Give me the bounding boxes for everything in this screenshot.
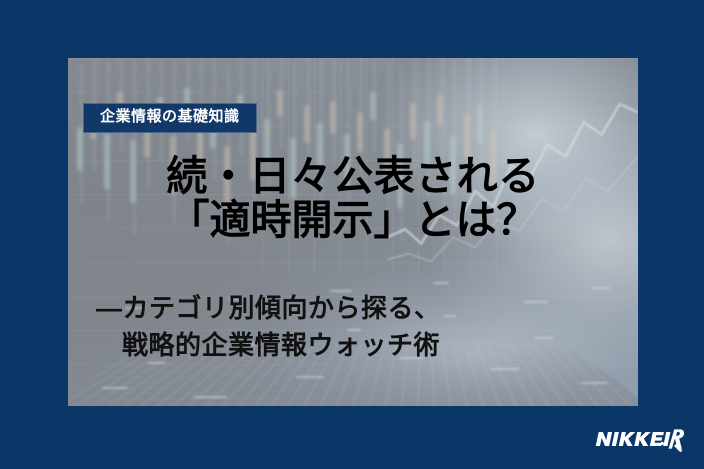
hero-image-panel: 企業情報の基礎知識 続・日々公表される 「適時開示」とは？ ―カテゴリ別傾向から… [68,58,638,406]
page-subtitle: ―カテゴリ別傾向から探る、 戦略的企業情報ウォッチ術 [96,290,441,364]
page-title-line-1: 続・日々公表される [68,154,638,198]
hero-content: 企業情報の基礎知識 続・日々公表される 「適時開示」とは？ ―カテゴリ別傾向から… [68,58,638,406]
article-cover-slide: 企業情報の基礎知識 続・日々公表される 「適時開示」とは？ ―カテゴリ別傾向から… [0,0,704,469]
category-badge: 企業情報の基礎知識 [83,103,257,133]
page-subtitle-line-1: ―カテゴリ別傾向から探る、 [96,293,441,323]
page-title-line-2: 「適時開示」とは？ [68,198,638,242]
nikkei-r-logo-icon [590,426,686,454]
page-subtitle-line-2: 戦略的企業情報ウォッチ術 [96,327,441,364]
page-title: 続・日々公表される 「適時開示」とは？ [68,154,638,243]
nikkei-r-logo [590,427,686,453]
